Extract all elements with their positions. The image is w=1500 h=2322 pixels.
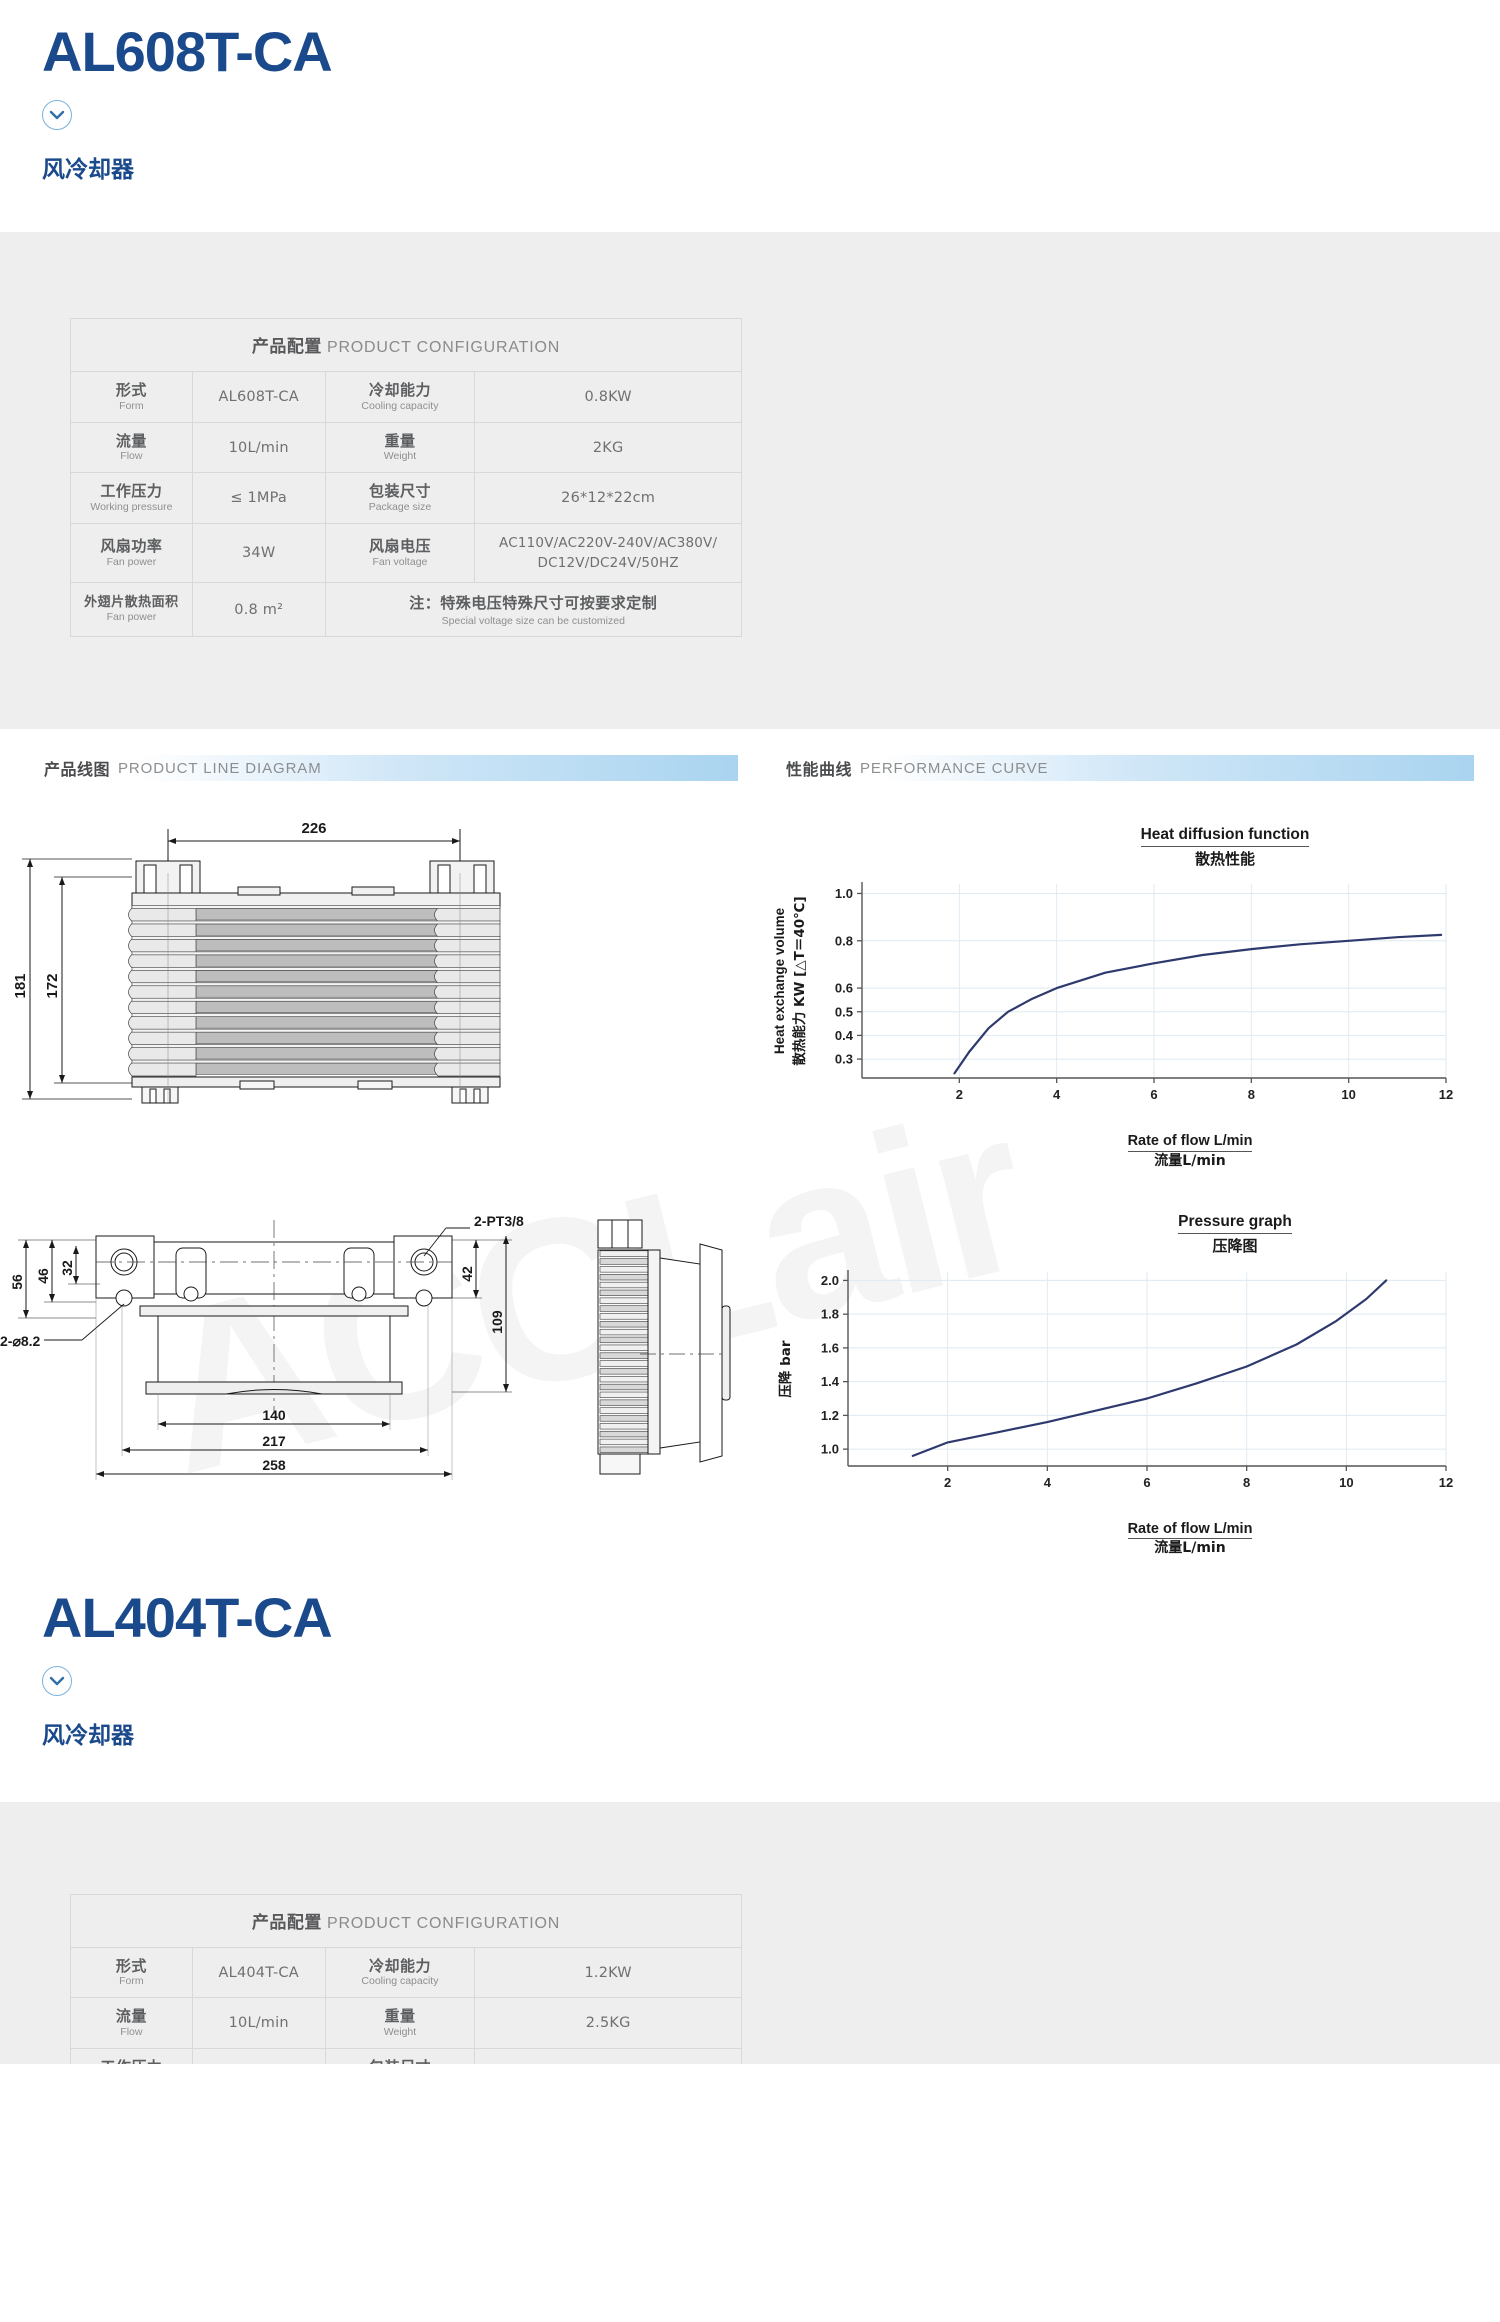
- chart1-title-en: Heat diffusion function: [1141, 825, 1310, 846]
- dim-140: 140: [262, 1407, 286, 1423]
- product-configuration-table-1: 产品配置 PRODUCT CONFIGURATION 形式 Form AL608…: [70, 318, 742, 637]
- label-form-cn: 形式: [75, 381, 188, 399]
- table-row: 流量 Flow 10L/min 重量 Weight 2.5KG: [71, 1998, 742, 2048]
- table-row: 风扇功率 Fan power 34W 风扇电压 Fan voltage AC11…: [71, 523, 742, 583]
- label-fan-power: 风扇功率 Fan power: [71, 523, 193, 583]
- table-row: 工作压力 Working pressure ≤ 1MPa 包装尺寸 Packag…: [71, 2048, 742, 2064]
- value-flow: 10L/min: [192, 1998, 325, 2048]
- chart1-xlabel-cn: 流量L/min: [880, 1152, 1500, 1170]
- chart2-title-cn: 压降图: [970, 1237, 1500, 1256]
- label-weight: 重量 Weight: [325, 422, 475, 472]
- label-weight-cn: 重量: [330, 432, 471, 450]
- section-bar-line-diagram: 产品线图 PRODUCT LINE DIAGRAM: [42, 755, 738, 781]
- table-note: 注：特殊电压特殊尺寸可按要求定制 Special voltage size ca…: [325, 583, 741, 637]
- label-weight-cn: 重量: [330, 2007, 471, 2025]
- section-label-en: PERFORMANCE CURVE: [860, 760, 1048, 777]
- label-fan-voltage-cn: 风扇电压: [330, 537, 471, 555]
- svg-text:1.0: 1.0: [835, 886, 853, 901]
- dim-height-181: 181: [12, 974, 29, 999]
- value-fan-voltage: AC110V/AC220V-240V/AC380V/ DC12V/DC24V/5…: [475, 523, 742, 583]
- label-fin-area-en: Fan power: [75, 611, 188, 624]
- svg-text:1.2: 1.2: [821, 1407, 839, 1422]
- callout-2-dia82: 2-⌀8.2: [0, 1333, 41, 1349]
- label-fin-area: 外翅片散热面积 Fan power: [71, 583, 193, 637]
- product-line-diagram-column: 产品线图 PRODUCT LINE DIAGRAM: [0, 755, 770, 1557]
- product-configuration-table-2: 产品配置 PRODUCT CONFIGURATION 形式 Form AL404…: [70, 1894, 742, 2064]
- dim-109: 109: [489, 1310, 505, 1334]
- table-title-en: PRODUCT CONFIGURATION: [327, 339, 560, 356]
- value-fan-power: 34W: [192, 523, 325, 583]
- svg-text:4: 4: [1053, 1087, 1061, 1102]
- chart1-plot: 1.00.80.60.50.40.324681012Heat exchange …: [770, 872, 1470, 1122]
- label-fan-power-en: Fan power: [75, 556, 188, 569]
- section-label-cn: 性能曲线: [784, 756, 852, 780]
- chart2-plot: 2.01.81.61.41.21.024681012压降 bar: [770, 1260, 1470, 1510]
- chevron-down-icon[interactable]: [42, 1666, 72, 1696]
- label-flow-cn: 流量: [75, 432, 188, 450]
- svg-text:1.0: 1.0: [821, 1441, 839, 1456]
- label-cooling-en: Cooling capacity: [330, 400, 471, 413]
- table-title-cell: 产品配置 PRODUCT CONFIGURATION: [71, 1895, 742, 1948]
- front-view-drawing: 226 181 172: [0, 781, 770, 1206]
- section-label-en: PRODUCT LINE DIAGRAM: [118, 760, 322, 777]
- callout-2-pt38: 2-PT3/8: [474, 1213, 524, 1229]
- page-title: AL608T-CA: [42, 22, 1500, 82]
- label-cooling: 冷却能力 Cooling capacity: [325, 1948, 475, 1998]
- label-package: 包装尺寸 Package size: [325, 473, 475, 523]
- table-row: 工作压力 Working pressure ≤ 1MPa 包装尺寸 Packag…: [71, 473, 742, 523]
- chart2-xlabel-en: Rate of flow L/min: [1128, 1520, 1253, 1540]
- value-pressure: ≤ 1MPa: [192, 473, 325, 523]
- svg-text:1.8: 1.8: [821, 1306, 839, 1321]
- svg-text:0.5: 0.5: [835, 1005, 853, 1020]
- svg-text:0.3: 0.3: [835, 1052, 853, 1067]
- label-cooling-cn: 冷却能力: [330, 381, 471, 399]
- performance-curve-column: 性能曲线 PERFORMANCE CURVE Heat diffusion fu…: [770, 755, 1500, 1557]
- label-form: 形式 Form: [71, 1948, 193, 1998]
- label-pressure: 工作压力 Working pressure: [71, 473, 193, 523]
- chart2-title-en: Pressure graph: [1178, 1212, 1292, 1233]
- value-package: 26*12*22cm: [475, 473, 742, 523]
- chart-heat-diffusion: Heat diffusion function 散热性能 1.00.80.60.…: [770, 825, 1500, 1170]
- value-cooling: 0.8KW: [475, 372, 742, 422]
- label-fin-area-cn: 外翅片散热面积: [75, 595, 188, 611]
- label-fan-voltage-en: Fan voltage: [330, 556, 471, 569]
- product-header-1: AL608T-CA 风冷却器: [0, 0, 1500, 232]
- dim-width-226: 226: [301, 820, 326, 837]
- diagram-and-curve-section: ACCLair 产品线图 PRODUCT LINE DIAGRAM: [0, 729, 1500, 1557]
- label-package: 包装尺寸 Package size: [325, 2048, 475, 2064]
- label-pressure: 工作压力 Working pressure: [71, 2048, 193, 2064]
- value-flow: 10L/min: [192, 422, 325, 472]
- table-note-en: Special voltage size can be customized: [330, 615, 737, 627]
- label-cooling-en: Cooling capacity: [330, 1975, 471, 1988]
- chart2-xlabel-cn: 流量L/min: [880, 1539, 1500, 1557]
- svg-text:12: 12: [1439, 1475, 1453, 1490]
- svg-text:2: 2: [956, 1087, 963, 1102]
- label-cooling: 冷却能力 Cooling capacity: [325, 372, 475, 422]
- value-form: AL608T-CA: [192, 372, 325, 422]
- svg-text:压降 bar: 压降 bar: [777, 1340, 794, 1397]
- label-flow: 流量 Flow: [71, 422, 193, 472]
- value-pressure: ≤ 1MPa: [192, 2048, 325, 2064]
- value-form: AL404T-CA: [192, 1948, 325, 1998]
- value-package: 26*13*22cm: [475, 2048, 742, 2064]
- table-header-row: 产品配置 PRODUCT CONFIGURATION: [71, 319, 742, 372]
- label-fan-power-cn: 风扇功率: [75, 537, 188, 555]
- label-pressure-en: Working pressure: [75, 501, 188, 514]
- label-form: 形式 Form: [71, 372, 193, 422]
- chart1-title-cn: 散热性能: [950, 850, 1500, 869]
- label-weight-en: Weight: [330, 450, 471, 463]
- label-flow: 流量 Flow: [71, 1998, 193, 2048]
- svg-text:10: 10: [1341, 1087, 1355, 1102]
- svg-text:0.4: 0.4: [835, 1028, 854, 1043]
- label-cooling-cn: 冷却能力: [330, 1957, 471, 1975]
- table-title-cn: 产品配置: [252, 337, 322, 357]
- dim-46: 46: [35, 1268, 51, 1284]
- svg-text:1.4: 1.4: [821, 1374, 840, 1389]
- table-row: 形式 Form AL608T-CA 冷却能力 Cooling capacity …: [71, 372, 742, 422]
- svg-text:8: 8: [1248, 1087, 1255, 1102]
- svg-text:散热能力 KW [△T＝40℃]: 散热能力 KW [△T＝40℃]: [791, 897, 808, 1066]
- dim-32: 32: [59, 1260, 75, 1276]
- label-pressure-cn: 工作压力: [75, 2058, 188, 2064]
- value-fin-area: 0.8 m²: [192, 583, 325, 637]
- product-subtitle-2: 风冷却器: [42, 1716, 1500, 1750]
- dim-56: 56: [9, 1274, 25, 1290]
- svg-text:12: 12: [1439, 1087, 1453, 1102]
- value-weight: 2.5KG: [475, 1998, 742, 2048]
- svg-text:2.0: 2.0: [821, 1272, 839, 1287]
- value-cooling: 1.2KW: [475, 1948, 742, 1998]
- chart1-xlabel-en: Rate of flow L/min: [1128, 1132, 1253, 1152]
- label-form-en: Form: [75, 400, 188, 413]
- label-weight: 重量 Weight: [325, 1998, 475, 2048]
- product-subtitle: 风冷却器: [42, 150, 1500, 184]
- table-title-cn: 产品配置: [252, 1913, 322, 1933]
- svg-text:0.8: 0.8: [835, 934, 853, 949]
- chevron-down-icon[interactable]: [42, 100, 72, 130]
- table-row: 形式 Form AL404T-CA 冷却能力 Cooling capacity …: [71, 1948, 742, 1998]
- config-band-1: 产品配置 PRODUCT CONFIGURATION 形式 Form AL608…: [0, 232, 1500, 729]
- table-title-en: PRODUCT CONFIGURATION: [327, 1915, 560, 1932]
- product-header-2: AL404T-CA 风冷却器: [0, 1558, 1500, 1802]
- label-package-en: Package size: [330, 501, 471, 514]
- table-row: 外翅片散热面积 Fan power 0.8 m² 注：特殊电压特殊尺寸可按要求定…: [71, 583, 742, 637]
- table-row: 流量 Flow 10L/min 重量 Weight 2KG: [71, 422, 742, 472]
- dim-217: 217: [262, 1433, 286, 1449]
- svg-text:10: 10: [1339, 1475, 1353, 1490]
- chart-pressure-graph: Pressure graph 压降图 2.01.81.61.41.21.0246…: [770, 1212, 1500, 1557]
- page-title-2: AL404T-CA: [42, 1588, 1500, 1648]
- svg-text:Heat exchange volume: Heat exchange volume: [772, 908, 787, 1055]
- svg-text:6: 6: [1143, 1475, 1150, 1490]
- label-fan-voltage: 风扇电压 Fan voltage: [325, 523, 475, 583]
- dim-258: 258: [262, 1457, 286, 1473]
- svg-text:4: 4: [1044, 1475, 1052, 1490]
- value-weight: 2KG: [475, 422, 742, 472]
- config-band-2: 产品配置 PRODUCT CONFIGURATION 形式 Form AL404…: [0, 1802, 1500, 2064]
- svg-text:1.6: 1.6: [821, 1340, 839, 1355]
- label-package-cn: 包装尺寸: [330, 2058, 471, 2064]
- table-title-cell: 产品配置 PRODUCT CONFIGURATION: [71, 319, 742, 372]
- datasheet-page: AL608T-CA 风冷却器 产品配置 PRODUCT CONFIGURATIO…: [0, 0, 1500, 2064]
- label-package-cn: 包装尺寸: [330, 482, 471, 500]
- svg-text:0.6: 0.6: [835, 981, 853, 996]
- svg-text:2: 2: [944, 1475, 951, 1490]
- label-form-cn: 形式: [75, 1957, 188, 1975]
- top-view-drawing: 56 46 32 42 109 2-PT3/8 2-⌀8.2 140 217 2…: [0, 1206, 770, 1511]
- label-pressure-cn: 工作压力: [75, 482, 188, 500]
- label-weight-en: Weight: [330, 2026, 471, 2039]
- dim-height-172: 172: [44, 974, 61, 999]
- table-header-row: 产品配置 PRODUCT CONFIGURATION: [71, 1895, 742, 1948]
- label-flow-en: Flow: [75, 2026, 188, 2039]
- label-flow-en: Flow: [75, 450, 188, 463]
- section-bar-performance: 性能曲线 PERFORMANCE CURVE: [784, 755, 1474, 781]
- svg-text:8: 8: [1243, 1475, 1250, 1490]
- svg-text:6: 6: [1150, 1087, 1157, 1102]
- label-flow-cn: 流量: [75, 2007, 188, 2025]
- table-note-cn: 注：特殊电压特殊尺寸可按要求定制: [330, 592, 737, 613]
- label-form-en: Form: [75, 1975, 188, 1988]
- dim-42: 42: [459, 1266, 475, 1282]
- section-label-cn: 产品线图: [42, 756, 110, 780]
